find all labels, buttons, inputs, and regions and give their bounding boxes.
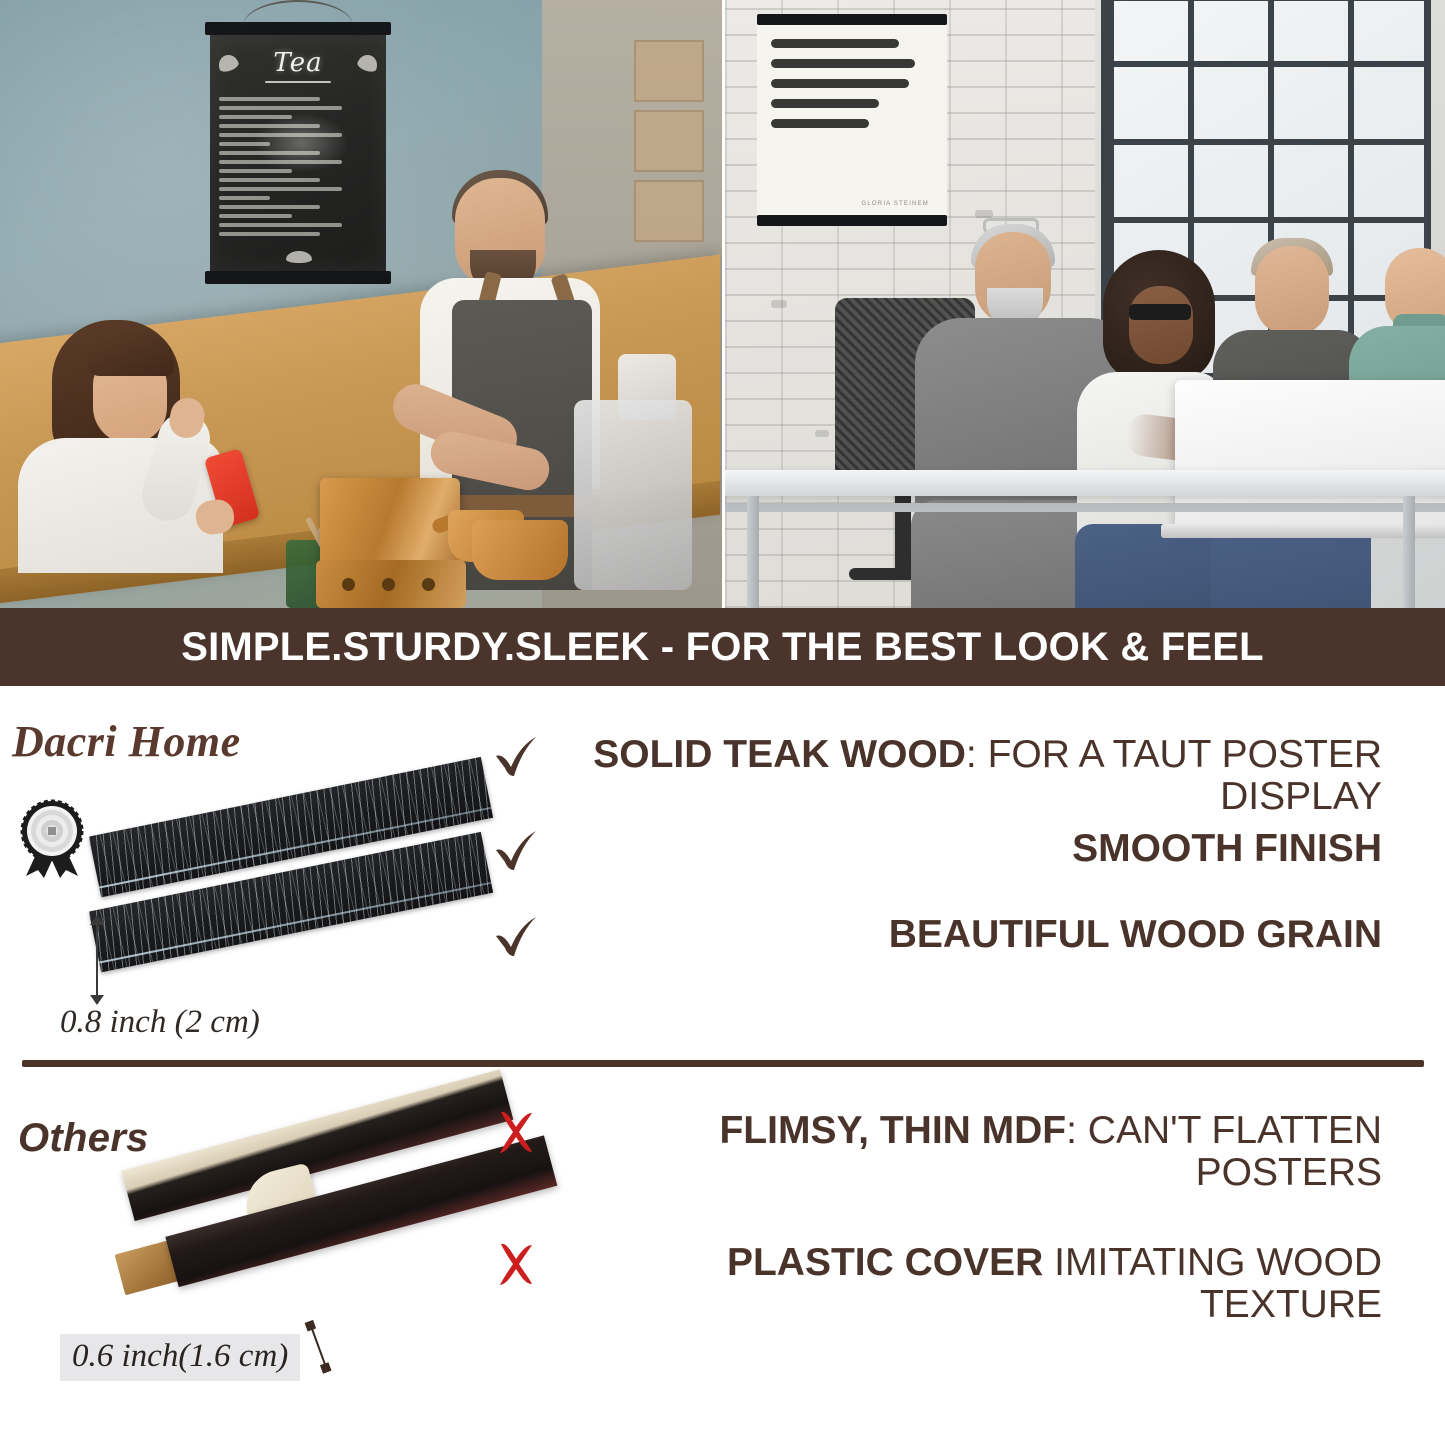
kettle-vent — [422, 578, 435, 591]
mdf-strips-image — [120, 1104, 520, 1344]
quote-poster-body: GLORIA STEINEM — [757, 25, 947, 215]
shelf-box — [634, 180, 704, 242]
feature-rest: : FOR A TAUT POSTER DISPLAY — [966, 733, 1382, 818]
check-icon — [490, 828, 542, 879]
hanger-top-bar — [757, 14, 947, 25]
award-ribbon-icon — [16, 798, 88, 878]
desk-rail — [722, 503, 1445, 512]
feature-rest: IMITATING WOOD TEXTURE — [1043, 1241, 1382, 1326]
kettle-vent — [382, 578, 395, 591]
person-3-head — [1255, 246, 1329, 336]
tagline-text: SIMPLE.STURDY.SLEEK - FOR THE BEST LOOK … — [181, 625, 1264, 670]
person-2-face — [1129, 286, 1193, 364]
feature-bold: FLIMSY, THIN MDF — [719, 1109, 1066, 1152]
cross-icon — [490, 1242, 542, 1291]
feature-list-others: FLIMSY, THIN MDF: CAN'T FLATTEN POSTERS … — [490, 1110, 1430, 1330]
feature-list-dacri-home: SOLID TEAK WOOD: FOR A TAUT POSTER DISPL… — [490, 734, 1430, 960]
check-icon — [490, 914, 542, 965]
kettle-vent — [342, 578, 355, 591]
chalk-menu-lines — [219, 97, 377, 241]
feature-bold: SOLID TEAK WOOD — [593, 733, 966, 776]
photo-office-scene: GLORIA STEINEM — [722, 0, 1445, 608]
feature-item: SOLID TEAK WOOD: FOR A TAUT POSTER DISPL… — [490, 734, 1430, 818]
feature-item: BEAUTIFUL WOOD GRAIN — [490, 914, 1430, 956]
photo-cafe-scene: Tea — [0, 0, 722, 608]
quote-poster-hanger: GLORIA STEINEM — [757, 14, 947, 226]
comparison-row-others: Others 0.6 inch(1.6 cm) FLIMSY, THIN MDF… — [0, 1064, 1445, 1430]
feature-text: BEAUTIFUL WOOD GRAIN — [552, 914, 1430, 956]
tea-poster-hanger: Tea — [205, 22, 391, 284]
tagline-banner: SIMPLE.STURDY.SLEEK - FOR THE BEST LOOK … — [0, 608, 1445, 686]
desk-leg — [747, 496, 759, 608]
copper-pot-2 — [472, 520, 568, 580]
cross-icon — [490, 1110, 542, 1159]
feature-item: FLIMSY, THIN MDF: CAN'T FLATTEN POSTERS — [490, 1110, 1430, 1194]
hero-photo-strip: Tea — [0, 0, 1445, 608]
person-2-glasses — [1129, 304, 1191, 320]
feature-item: SMOOTH FINISH — [490, 828, 1430, 870]
chalk-flourish-icon — [286, 251, 312, 263]
dimension-label-dacri: 0.8 inch (2 cm) — [60, 1004, 260, 1041]
chalkboard-poster: Tea — [210, 35, 386, 271]
thickness-arrow-icon — [96, 924, 98, 996]
feature-text: FLIMSY, THIN MDF: CAN'T FLATTEN POSTERS — [552, 1110, 1430, 1194]
comparison-section: Dacri Home — [0, 686, 1445, 1430]
feature-bold: PLASTIC COVER — [727, 1241, 1043, 1284]
hanger-bottom-bar — [205, 271, 391, 284]
thickness-callout-line — [310, 1326, 327, 1368]
check-icon — [490, 734, 542, 785]
teak-strips-image — [95, 696, 505, 1016]
dimension-label-others-box: 0.6 inch(1.6 cm) — [60, 1334, 300, 1381]
shelf-box — [634, 40, 704, 102]
customer-hair-front — [88, 330, 174, 376]
shelf-box — [634, 110, 704, 172]
desk-leg — [1403, 496, 1415, 608]
poster-attribution: GLORIA STEINEM — [862, 201, 929, 207]
hanger-bottom-bar — [757, 215, 947, 226]
feature-text: SOLID TEAK WOOD: FOR A TAUT POSTER DISPL… — [552, 734, 1430, 818]
feature-bold: SMOOTH FINISH — [1072, 827, 1382, 870]
coffee-grinder — [574, 400, 692, 590]
feature-item: PLASTIC COVER IMITATING WOOD TEXTURE — [490, 1242, 1430, 1326]
office-desk — [722, 470, 1445, 496]
feature-bold: BEAUTIFUL WOOD GRAIN — [889, 913, 1382, 956]
feature-text: PLASTIC COVER IMITATING WOOD TEXTURE — [552, 1242, 1430, 1326]
dimension-label-others: 0.6 inch(1.6 cm) — [72, 1338, 288, 1374]
feature-text: SMOOTH FINISH — [552, 828, 1430, 870]
comparison-row-dacri-home: Dacri Home — [0, 686, 1445, 1061]
feature-rest: : CAN'T FLATTEN POSTERS — [1066, 1109, 1382, 1194]
